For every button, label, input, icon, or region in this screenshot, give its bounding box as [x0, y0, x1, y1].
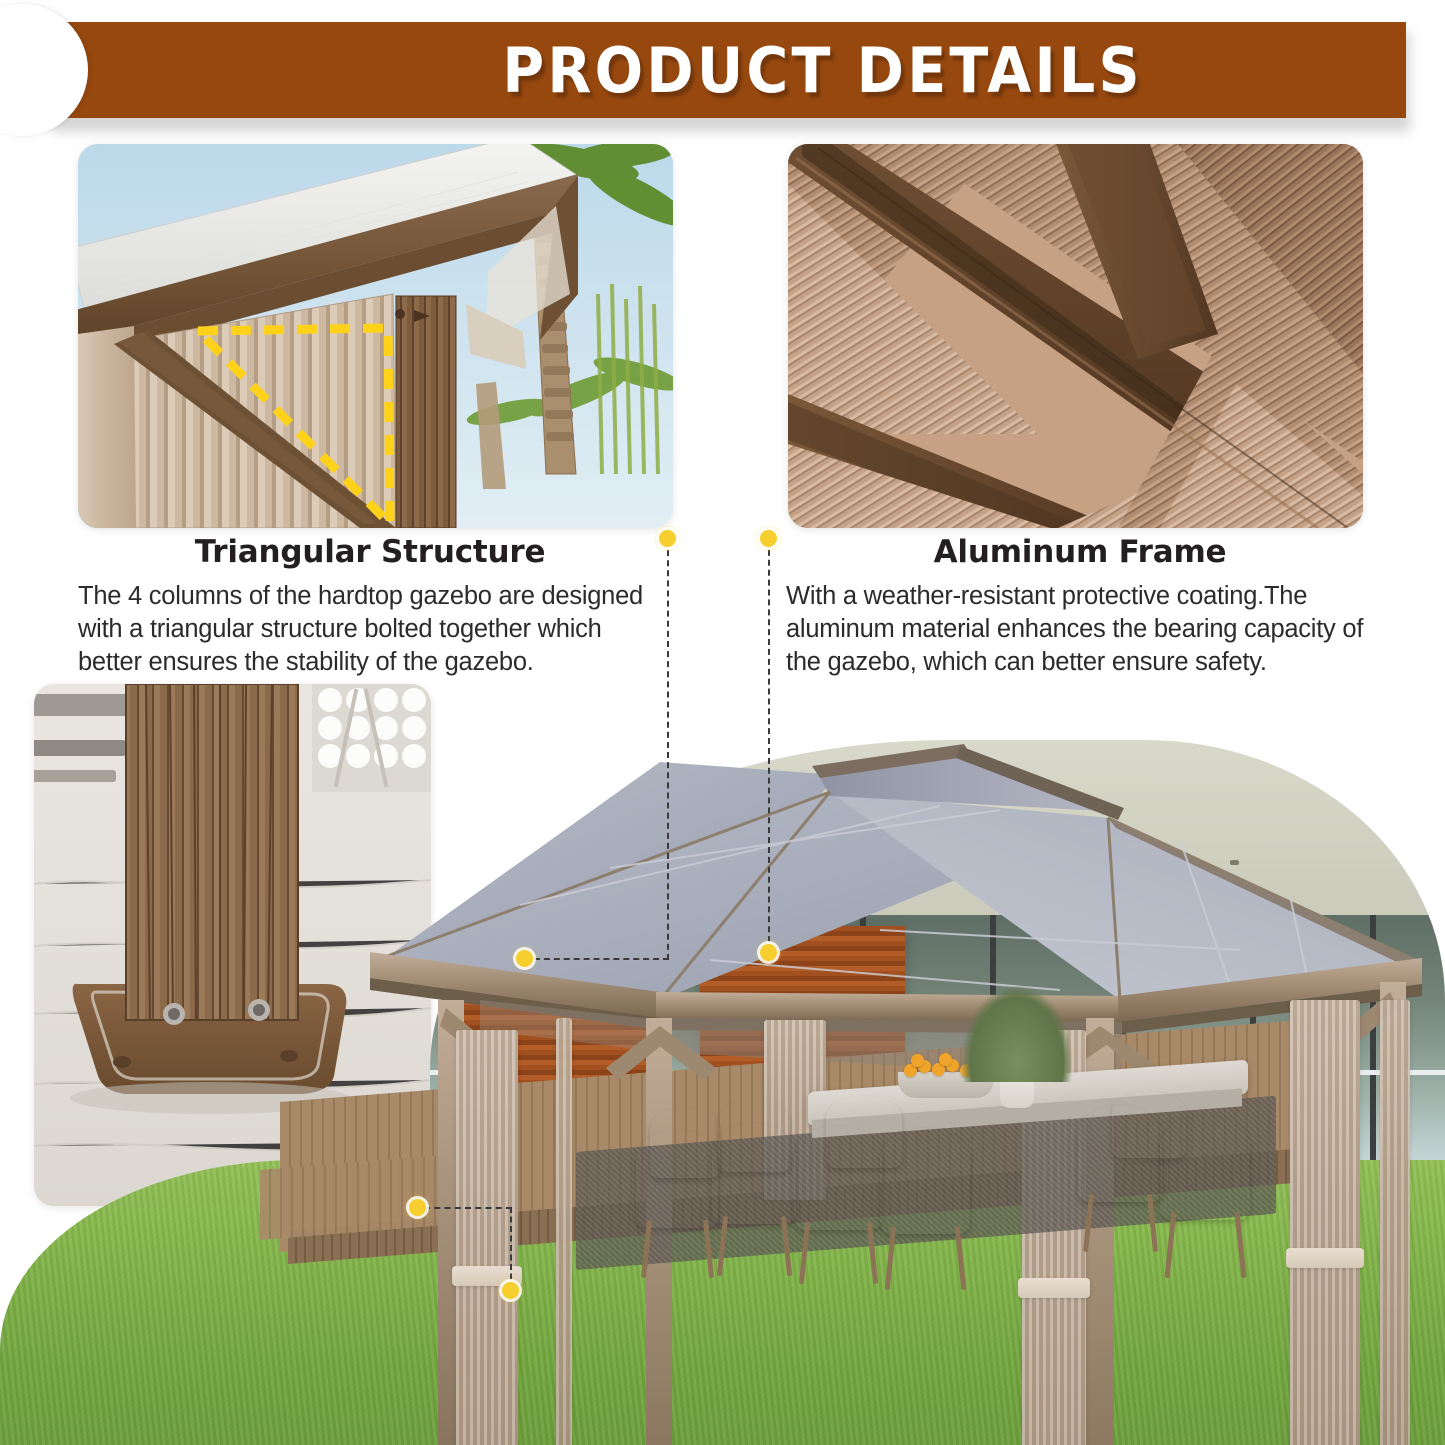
- dining-chair: [650, 1108, 720, 1178]
- triangular-structure-image: [78, 144, 673, 528]
- aluminum-frame-body: With a weather-resistant protective coat…: [780, 580, 1380, 679]
- connector-dot-triangular-top: [659, 530, 676, 547]
- connector-dot-anchor-start: [409, 1199, 426, 1216]
- header-banner: PRODUCT DETAILS: [0, 22, 1412, 126]
- connector-line-triangular: [667, 540, 669, 960]
- curtain-tieback: [1286, 1248, 1364, 1268]
- aluminum-frame-caption: Aluminum Frame With a weather-resistant …: [780, 536, 1380, 679]
- triangular-structure-body: The 4 columns of the hardtop gazebo are …: [70, 580, 670, 679]
- connector-dot-anchor-target: [502, 1282, 519, 1299]
- gazebo-curtain: [456, 1030, 518, 1445]
- connector-line-triangular-horizontal: [524, 958, 669, 960]
- fruit: [939, 1053, 952, 1066]
- chair-back: [1112, 1092, 1186, 1158]
- connector-dot-aluminum-target: [760, 944, 777, 961]
- aluminum-frame-photo: [788, 144, 1363, 528]
- connector-line-aluminum: [768, 540, 770, 952]
- table-plant: [962, 986, 1072, 1082]
- gazebo-net: [556, 1018, 572, 1445]
- triangular-structure-title: Triangular Structure: [70, 536, 670, 569]
- dining-chair: [826, 1096, 902, 1168]
- chair-back: [650, 1108, 720, 1178]
- dining-chair: [1112, 1092, 1186, 1158]
- curtain-tieback: [1018, 1278, 1090, 1298]
- connector-dot-triangular-target: [516, 950, 533, 967]
- hero-gazebo-scene: [0, 700, 1445, 1445]
- product-details-page: PRODUCT DETAILS: [0, 0, 1445, 1445]
- dining-chair: [718, 1100, 790, 1172]
- aluminum-frame-title: Aluminum Frame: [780, 536, 1380, 569]
- aluminum-frame-image: [788, 144, 1363, 528]
- gazebo-corner-photo: [78, 144, 673, 528]
- gazebo-curtain: [1290, 1000, 1360, 1445]
- triangular-structure-caption: Triangular Structure The 4 columns of th…: [70, 536, 670, 679]
- connector-line-anchor-vertical: [510, 1207, 512, 1289]
- page-title: PRODUCT DETAILS: [56, 22, 1350, 118]
- chair-back: [718, 1100, 790, 1172]
- connector-line-anchor-horizontal: [424, 1207, 512, 1209]
- fruit: [911, 1054, 924, 1067]
- chair-back: [826, 1096, 902, 1168]
- connector-dot-aluminum-top: [760, 530, 777, 547]
- gazebo-curtain: [1380, 1000, 1410, 1445]
